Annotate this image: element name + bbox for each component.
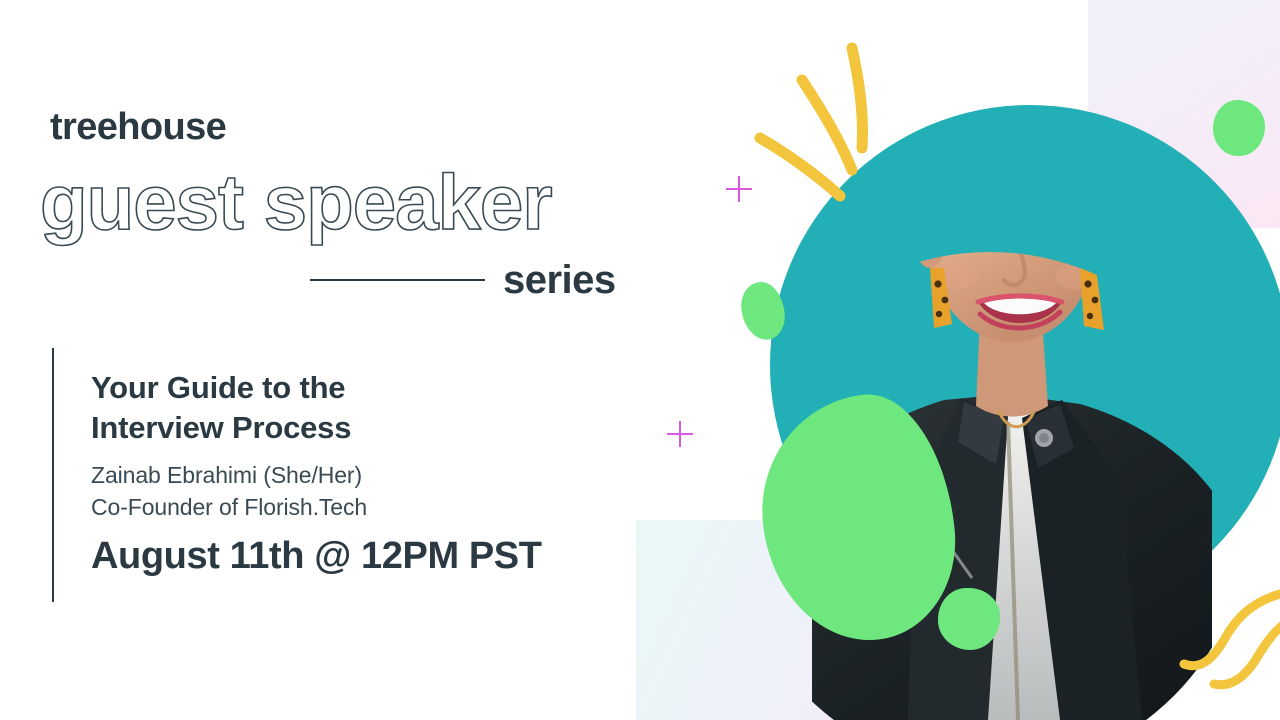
yellow-sparkle-icon [744, 36, 904, 216]
yellow-squiggle-icon [1168, 588, 1280, 700]
magenta-plus-icon-2 [667, 421, 693, 447]
speaker-name: Zainab Ebrahimi (She/Her) [91, 460, 561, 492]
talk-title: Your Guide to the Interview Process [91, 368, 561, 447]
green-blob-round [938, 588, 1000, 650]
green-blob-small-right [1213, 100, 1265, 156]
brand-name: treehouse [50, 108, 226, 146]
slide-canvas: treehouse guest speaker series Your Guid… [0, 0, 1280, 720]
magenta-plus-icon-1 [726, 176, 752, 202]
talk-title-line-1: Your Guide to the [91, 368, 561, 408]
series-label: series [503, 260, 616, 300]
vertical-accent-bar [52, 348, 54, 602]
event-datetime: August 11th @ 12PM PST [91, 536, 542, 578]
headline-guest-speaker: guest speaker [40, 163, 552, 241]
text-column: treehouse guest speaker series Your Guid… [0, 0, 660, 720]
speaker-block: Zainab Ebrahimi (She/Her) Co-Founder of … [91, 460, 561, 524]
talk-title-line-2: Interview Process [91, 408, 561, 448]
speaker-role: Co-Founder of Florish.Tech [91, 492, 561, 524]
series-divider [310, 279, 485, 281]
series-row: series [310, 256, 630, 304]
